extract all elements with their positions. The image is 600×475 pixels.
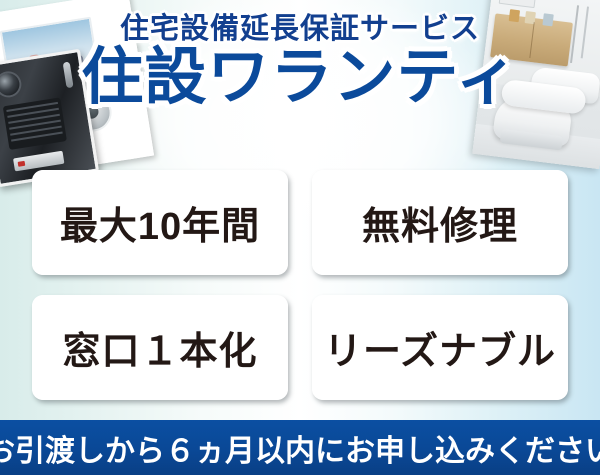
headline-group: 住宅設備延長保証サービス 住設ワランティ	[0, 14, 600, 110]
feature-label: 最大10年間	[60, 195, 260, 250]
feature-label: 無料修理	[362, 195, 518, 250]
feature-box-single-contact[interactable]: 窓口１本化	[32, 295, 288, 400]
call-button-icon	[13, 151, 64, 172]
feature-label: 窓口１本化	[62, 320, 257, 375]
feature-row-bottom: 窓口１本化 リーズナブル	[32, 295, 568, 400]
service-banner: 住宅設備延長保証サービス 住設ワランティ 最大10年間 無料修理 窓口１本化 リ…	[0, 0, 600, 475]
service-title: 住設ワランティ	[0, 46, 600, 109]
feature-box-reasonable[interactable]: リーズナブル	[312, 295, 568, 400]
service-subtitle: 住宅設備延長保証サービス	[0, 14, 600, 44]
application-deadline-text: お引渡しから６ヵ月以内にお申し込みください	[0, 426, 600, 470]
feature-box-free-repair[interactable]: 無料修理	[312, 170, 568, 275]
feature-label: リーズナブル	[324, 320, 556, 375]
feature-box-duration[interactable]: 最大10年間	[32, 170, 288, 275]
feature-box-grid: 最大10年間 無料修理 窓口１本化 リーズナブル	[32, 170, 568, 400]
feature-row-top: 最大10年間 無料修理	[32, 170, 568, 275]
application-deadline-bar[interactable]: お引渡しから６ヵ月以内にお申し込みください	[0, 420, 600, 475]
